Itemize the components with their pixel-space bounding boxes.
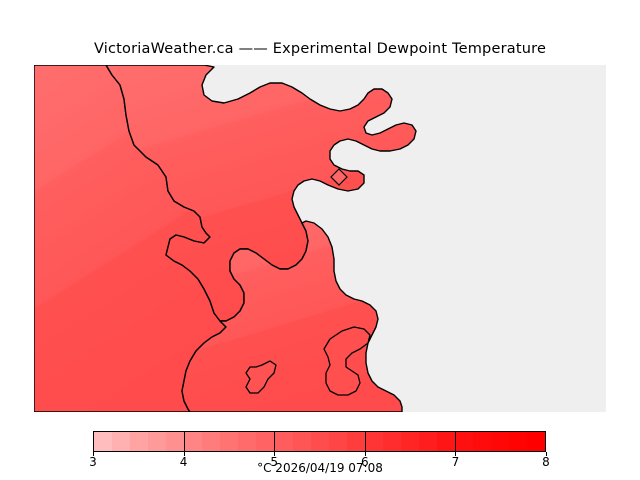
colorbar-swatch: [311, 432, 329, 451]
colorbar-swatch: [220, 432, 238, 451]
colorbar-swatch: [148, 432, 166, 451]
colorbar-tick-label: 7: [452, 455, 460, 469]
colorbar-swatch: [184, 432, 202, 451]
colorbar-swatch: [256, 432, 274, 451]
colorbar-swatch: [527, 432, 545, 451]
colorbar-swatch: [455, 432, 473, 451]
colorbar-tick-label: 4: [180, 455, 188, 469]
colorbar-swatch: [130, 432, 148, 451]
colorbar-swatch: [112, 432, 130, 451]
page-title: VictoriaWeather.ca —— Experimental Dewpo…: [0, 41, 640, 57]
colorbar-tick-label: 3: [89, 455, 97, 469]
colorbar-swatch: [473, 432, 491, 451]
dewpoint-map-plot: [34, 65, 606, 412]
colorbar-swatch: [94, 432, 112, 451]
colorbar-tick-label: 5: [270, 455, 278, 469]
colorbar-swatch: [401, 432, 419, 451]
colorbar-swatch: [365, 432, 383, 451]
colorbar-gradient: [93, 431, 546, 452]
colorbar-swatch: [166, 432, 184, 451]
colorbar-tick-label: 8: [542, 455, 550, 469]
colorbar-swatch: [383, 432, 401, 451]
colorbar-swatch: [491, 432, 509, 451]
colorbar-swatch: [293, 432, 311, 451]
colorbar-swatch: [329, 432, 347, 451]
colorbar-swatch: [238, 432, 256, 451]
colorbar-swatch: [274, 432, 292, 451]
colorbar-swatch: [509, 432, 527, 451]
colorbar-tick-label: 6: [361, 455, 369, 469]
colorbar: [93, 431, 546, 452]
map-svg: [34, 65, 606, 412]
colorbar-swatch: [347, 432, 365, 451]
colorbar-swatch: [202, 432, 220, 451]
colorbar-swatch: [419, 432, 437, 451]
colorbar-swatch: [437, 432, 455, 451]
